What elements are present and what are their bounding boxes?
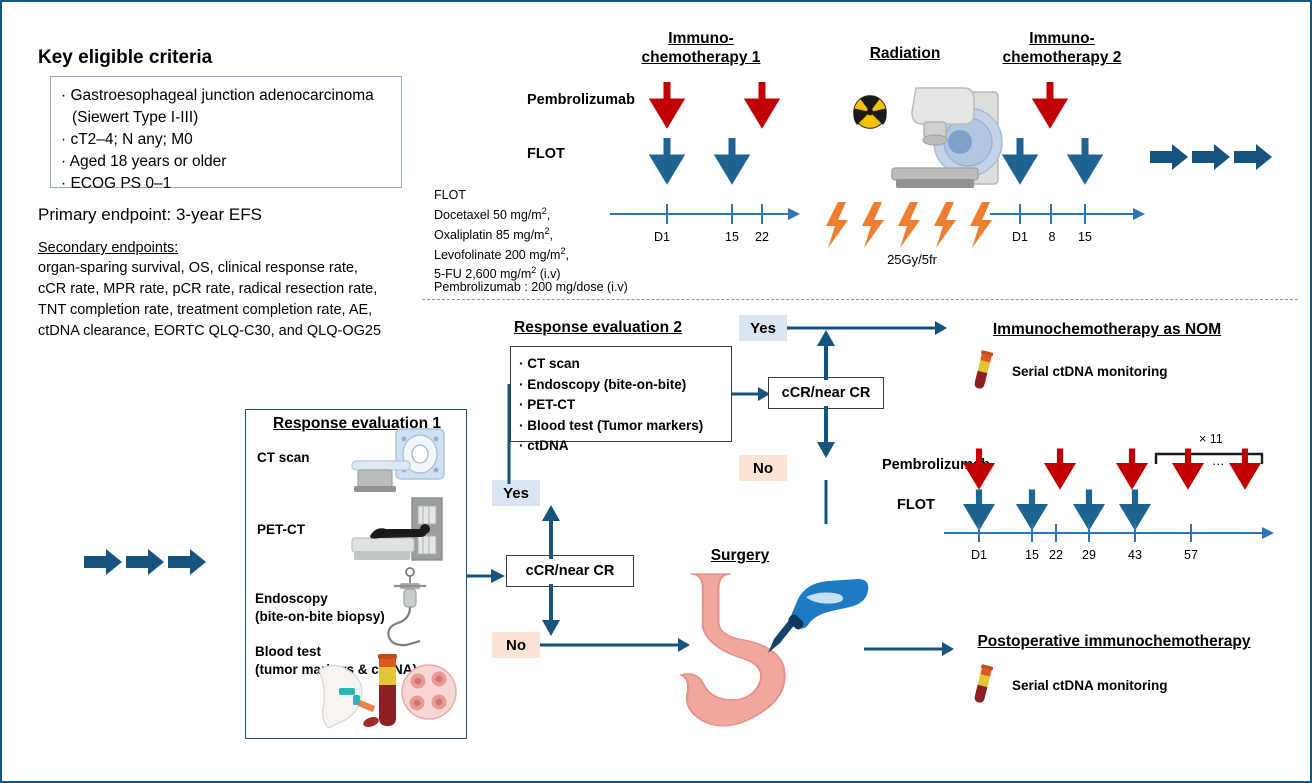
timeline1-tick-label: D1	[647, 230, 677, 244]
timeline2-tick-label: D1	[1005, 230, 1035, 244]
nom-pembrolizumab-arrow	[1045, 448, 1075, 486]
response1-item-label: PET-CT	[257, 521, 305, 539]
radiotherapy-machine-illustration	[890, 80, 1006, 192]
nom-tick-label: 57	[1176, 548, 1206, 562]
timeline2-tick-label: 15	[1070, 230, 1100, 244]
decision-node-ccr-near-cr-2[interactable]: cCR/near CR	[768, 377, 884, 409]
section-divider	[422, 299, 1298, 300]
immunochemotherapy-2-title: Immuno- chemotherapy 2	[977, 29, 1147, 68]
postop-ctdna-label: Serial ctDNA monitoring	[1012, 678, 1168, 693]
dose-line: FLOT	[434, 186, 569, 205]
primary-endpoint: Primary endpoint: 3-year EFS	[38, 205, 262, 225]
flow-chevron-arrows-top	[1150, 142, 1276, 172]
no-badge-2[interactable]: No	[739, 455, 787, 481]
timeline1-tick-label: 22	[747, 230, 777, 244]
timeline2-tick-label: 8	[1037, 230, 1067, 244]
pembrolizumab-dose-arrow	[1033, 82, 1067, 124]
decision2-no-arrow	[815, 406, 837, 458]
response2-item: · Blood test (Tumor markers)	[519, 416, 721, 437]
flow-chevron-arrows-bottom	[84, 547, 210, 577]
nom-tick-label: 43	[1120, 548, 1150, 562]
response2-item: · CT scan	[519, 354, 721, 375]
yes2-to-nom-connector	[787, 320, 947, 336]
flot-dose-arrow	[1068, 138, 1102, 180]
nom-tick-label: 22	[1041, 548, 1071, 562]
flot-dose-arrow	[715, 138, 749, 180]
item-line-2: (bite-on-bite biopsy)	[255, 608, 385, 626]
secondary-endpoint-line: cCR rate, MPR rate, pCR rate, radical re…	[38, 279, 381, 300]
title-line-2: chemotherapy 2	[977, 48, 1147, 67]
postop-title: Postoperative immunochemotherapy	[969, 632, 1259, 651]
title-line-1: Immuno-	[977, 29, 1147, 48]
nom-pembrolizumab-arrow	[1230, 448, 1260, 486]
scalpel-hand-illustration	[762, 577, 872, 657]
induction-timeline-1-axis	[610, 202, 800, 226]
endoscope-illustration	[380, 567, 440, 647]
eligibility-criteria-box: · Gastroesophageal junction adenocarcino…	[50, 76, 402, 188]
yes-badge-2[interactable]: Yes	[739, 315, 787, 341]
blood-tube-icon	[970, 664, 996, 704]
decision1-yes-arrow	[540, 505, 562, 559]
secondary-endpoint-line: organ-sparing survival, OS, clinical res…	[38, 258, 381, 279]
criteria-item: · ECOG PS 0–1	[61, 173, 389, 195]
decision2-yes-arrow	[815, 330, 837, 380]
nom-pembrolizumab-arrow	[1117, 448, 1147, 486]
criteria-item: · Gastroesophageal junction adenocarcino…	[61, 85, 389, 107]
title-line-1: Immuno-	[616, 29, 786, 48]
item-line-1: Endoscopy	[255, 590, 385, 608]
nom-flot-row-label: FLOT	[897, 497, 935, 513]
dose-line: Levofolinate 200 mg/m2,	[434, 245, 569, 265]
eligibility-heading: Key eligible criteria	[38, 47, 212, 69]
induction-timeline-2-axis	[990, 202, 1145, 226]
nom-ctdna-label: Serial ctDNA monitoring	[1012, 364, 1168, 379]
nom-title: Immunochemotherapy as NOM	[977, 320, 1237, 339]
response2-item: · Endoscopy (bite-on-bite)	[519, 375, 721, 396]
decision1-no-arrow	[540, 584, 562, 636]
no-badge-1[interactable]: No	[492, 632, 540, 658]
criteria-item: (Siewert Type I-III)	[61, 107, 389, 129]
dose-line: Oxaliplatin 85 mg/m2,	[434, 225, 569, 245]
radiation-title: Radiation	[840, 44, 970, 63]
secondary-endpoint-line: TNT completion rate, treatment completio…	[38, 300, 381, 321]
nom-tick-label: D1	[964, 548, 994, 562]
response-evaluation-2-title: Response evaluation 2	[514, 318, 734, 337]
nom-arrow-ellipsis: ···	[1212, 457, 1225, 471]
radiation-dose-label: 25Gy/5fr	[832, 252, 992, 267]
immunochemotherapy-1-title: Immuno- chemotherapy 1	[616, 29, 786, 68]
nom-cycle-multiplier: × 11	[1199, 432, 1223, 446]
radiation-hazard-icon	[853, 95, 887, 129]
flot-dose-arrow	[1003, 138, 1037, 180]
pembrolizumab-row-label: Pembrolizumab	[527, 92, 635, 108]
flot-dose-arrow	[650, 138, 684, 180]
pembrolizumab-dose-arrow	[650, 82, 684, 124]
response1-item-label: Endoscopy (bite-on-bite biopsy)	[255, 590, 385, 625]
nom-tick-label: 29	[1074, 548, 1104, 562]
item-line-1: PET-CT	[257, 521, 305, 539]
radiation-fraction-bolts-icon	[824, 202, 1002, 248]
response1-item-label: CT scan	[257, 449, 310, 467]
response2-to-decision2-connector	[732, 386, 770, 402]
blood-test-illustration	[317, 650, 457, 734]
flot-row-label: FLOT	[527, 146, 565, 162]
no2-to-surgery-connector	[815, 480, 837, 524]
pet-ct-illustration	[350, 496, 448, 568]
secondary-endpoint-line: ctDNA clearance, EORTC QLQ-C30, and QLQ-…	[38, 321, 381, 342]
surgery-title: Surgery	[685, 546, 795, 565]
response2-item: · PET-CT	[519, 395, 721, 416]
item-line-1: CT scan	[257, 449, 310, 467]
pembrolizumab-dose-detail: Pembrolizumab : 200 mg/dose (i.v)	[434, 278, 628, 297]
criteria-item: · Aged 18 years or older	[61, 151, 389, 173]
dose-line: Docetaxel 50 mg/m2,	[434, 205, 569, 225]
response2-item: · ctDNA	[519, 436, 721, 457]
ct-scanner-illustration	[350, 427, 448, 495]
blood-tube-icon	[970, 350, 996, 390]
secondary-endpoints-list: organ-sparing survival, OS, clinical res…	[38, 258, 381, 342]
pembrolizumab-dose-arrow	[745, 82, 779, 124]
nom-pembrolizumab-arrow	[1173, 448, 1203, 486]
trial-schema-diagram: Key eligible criteria · Gastroesophageal…	[0, 0, 1312, 783]
secondary-endpoints-heading: Secondary endpoints:	[38, 240, 178, 256]
surgery-to-postop-connector	[864, 641, 954, 657]
decision-node-ccr-near-cr-1[interactable]: cCR/near CR	[506, 555, 634, 587]
nom-pembrolizumab-arrow	[964, 448, 994, 486]
flot-dose-details: FLOT Docetaxel 50 mg/m2, Oxaliplatin 85 …	[434, 186, 569, 284]
nom-timeline-axis	[944, 522, 1274, 544]
response-evaluation-2-box: · CT scan · Endoscopy (bite-on-bite) · P…	[510, 346, 732, 442]
criteria-item: · cT2–4; N any; M0	[61, 129, 389, 151]
title-line-2: chemotherapy 1	[616, 48, 786, 67]
timeline1-tick-label: 15	[717, 230, 747, 244]
